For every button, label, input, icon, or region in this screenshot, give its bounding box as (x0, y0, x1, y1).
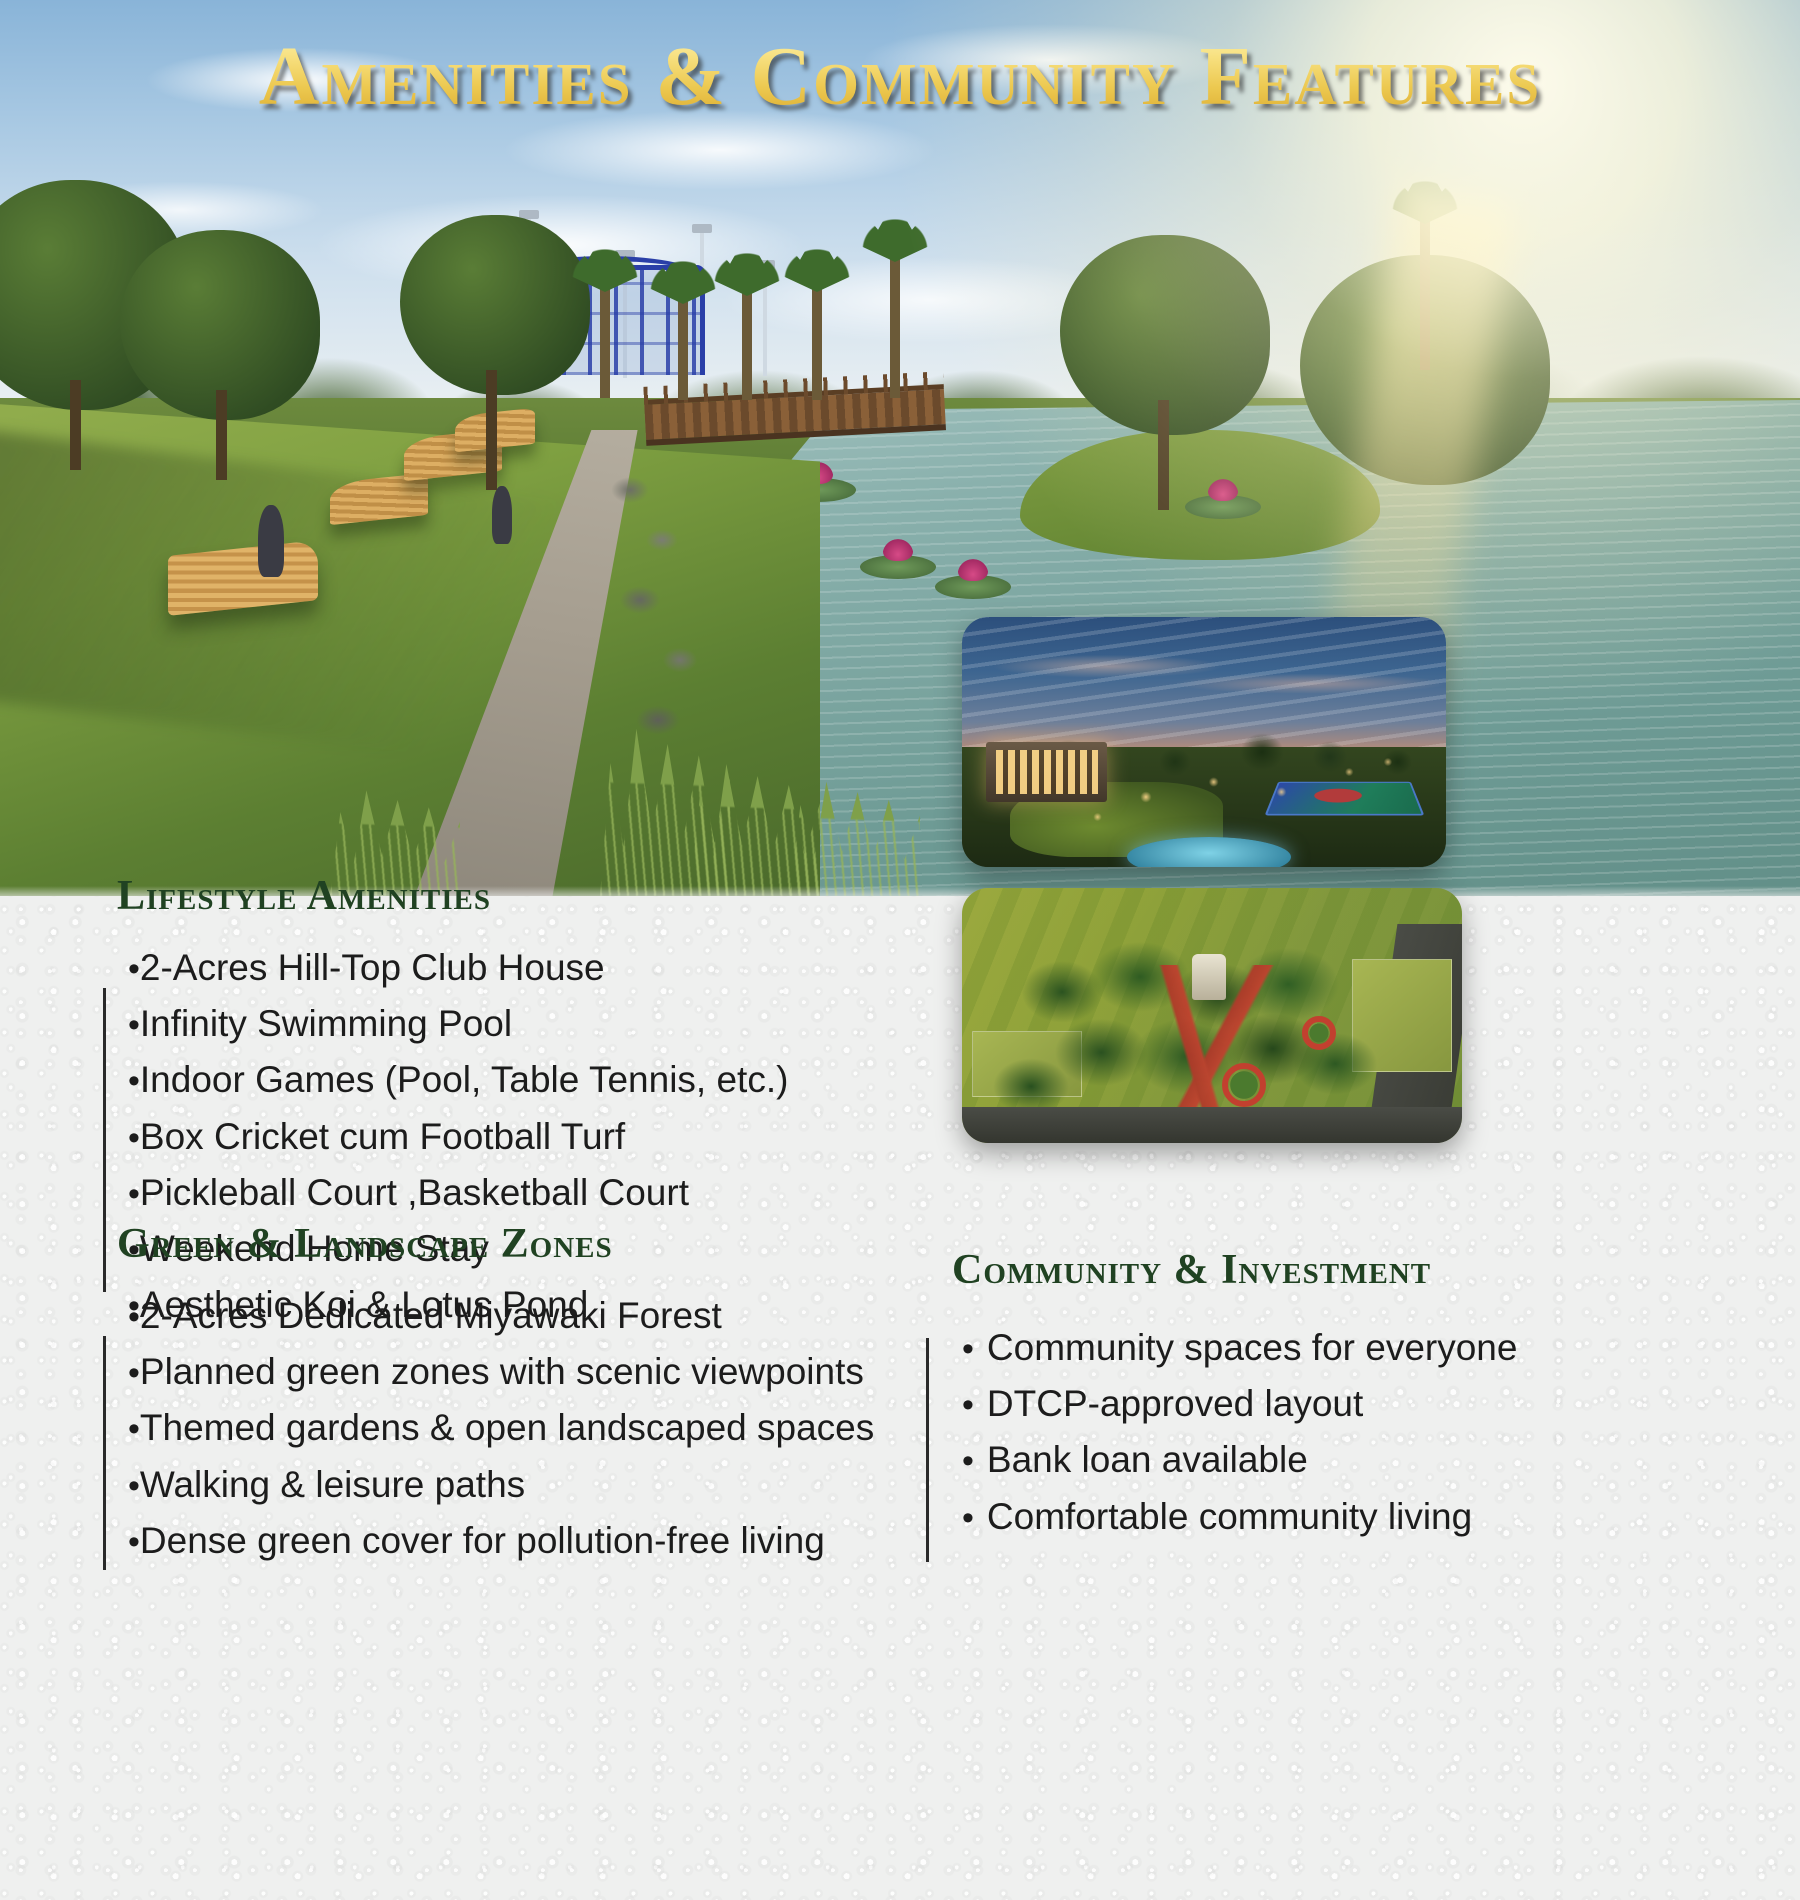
bullet-icon: • (128, 1412, 140, 1446)
bullet-icon: • (128, 1525, 140, 1559)
page-title-container: Amenities & Community Features (0, 28, 1800, 125)
list-item: •DTCP-approved layout (962, 1376, 1517, 1432)
green-bullet-block: •2-Acres Dedicated Miyawaki Forest •Plan… (112, 1288, 874, 1569)
list-item: •Bank loan available (962, 1432, 1517, 1488)
list-item: •Pickleball Court ,Basketball Court (128, 1165, 788, 1221)
bullet-icon: • (128, 1008, 140, 1042)
forest-path-roundabout (1222, 1063, 1266, 1107)
green-landscape-list: •2-Acres Dedicated Miyawaki Forest •Plan… (112, 1288, 874, 1569)
list-item-label: Walking & leisure paths (140, 1457, 525, 1513)
bullet-icon: • (128, 1300, 140, 1334)
list-item: •Infinity Swimming Pool (128, 996, 788, 1052)
community-investment-list: •Community spaces for everyone •DTCP-app… (948, 1320, 1517, 1545)
palm-tree (742, 272, 752, 400)
vertical-rule (103, 1336, 106, 1570)
list-item: •Box Cricket cum Football Turf (128, 1109, 788, 1165)
bullet-icon: • (128, 1356, 140, 1390)
palm-tree (678, 280, 688, 400)
inset-image-forest (962, 888, 1462, 1143)
list-item-label: DTCP-approved layout (987, 1376, 1363, 1432)
bullet-icon: • (128, 1177, 140, 1211)
vertical-rule (926, 1338, 929, 1562)
community-bullet-block: •Community spaces for everyone •DTCP-app… (948, 1320, 1517, 1545)
bullet-icon: • (128, 952, 140, 986)
palm-tree (1420, 200, 1430, 370)
section-heading-lifestyle: Lifestyle Amenities (117, 872, 788, 920)
content-area: Lifestyle Amenities •2-Acres Hill-Top Cl… (0, 896, 1800, 1900)
hero-image (0, 0, 1800, 896)
list-item: •2-Acres Dedicated Miyawaki Forest (128, 1288, 874, 1344)
bullet-icon: • (128, 1121, 140, 1155)
seated-person (258, 505, 284, 577)
list-item-label: Themed gardens & open landscaped spaces (140, 1400, 874, 1456)
list-item: •Planned green zones with scenic viewpoi… (128, 1344, 874, 1400)
list-item-label: Community spaces for everyone (987, 1320, 1518, 1376)
list-item-label: Planned green zones with scenic viewpoin… (140, 1344, 864, 1400)
vertical-rule (103, 988, 106, 1292)
forest-path-roundabout (1302, 1016, 1336, 1050)
palm-tree (812, 268, 822, 400)
list-item-label: 2-Acres Hill-Top Club House (140, 940, 605, 996)
section-community-investment: Community & Investment •Community spaces… (948, 1246, 1517, 1545)
list-item-label: Dense green cover for pollution-free liv… (140, 1513, 825, 1569)
section-heading-green: Green & Landscape Zones (117, 1220, 874, 1268)
tree-trunk (1158, 400, 1169, 510)
lotus-flower (1185, 495, 1261, 519)
bullet-icon: • (962, 1501, 974, 1535)
list-item-label: Comfortable community living (987, 1489, 1472, 1545)
section-green-landscape-zones: Green & Landscape Zones •2-Acres Dedicat… (112, 1220, 874, 1569)
walking-person (492, 486, 512, 544)
bullet-icon: • (128, 1064, 140, 1098)
list-item-label: Infinity Swimming Pool (140, 996, 512, 1052)
bullet-icon: • (962, 1332, 974, 1366)
tree-trunk (486, 370, 497, 490)
forest-water-tower (1192, 954, 1226, 1000)
tree-trunk (216, 390, 227, 480)
lotus-flower (935, 575, 1011, 599)
section-heading-community: Community & Investment (952, 1246, 1517, 1294)
list-item-label: Indoor Games (Pool, Table Tennis, etc.) (140, 1052, 789, 1108)
list-item: •Themed gardens & open landscaped spaces (128, 1400, 874, 1456)
bullet-icon: • (962, 1444, 974, 1478)
inset-image-clubhouse (962, 617, 1446, 867)
forest-front-road (962, 1107, 1462, 1143)
list-item-label: Bank loan available (987, 1432, 1308, 1488)
palm-tree (890, 238, 900, 398)
pond-bank-rocks (600, 470, 880, 770)
list-item-label: Box Cricket cum Football Turf (140, 1109, 625, 1165)
list-item-label: Pickleball Court ,Basketball Court (140, 1165, 689, 1221)
list-item: •Community spaces for everyone (962, 1320, 1517, 1376)
bullet-icon: • (128, 1469, 140, 1503)
list-item-label: 2-Acres Dedicated Miyawaki Forest (140, 1288, 722, 1344)
list-item: •Indoor Games (Pool, Table Tennis, etc.) (128, 1052, 788, 1108)
tree-trunk (70, 380, 81, 470)
list-item: •2-Acres Hill-Top Club House (128, 940, 788, 996)
page-title: Amenities & Community Features (259, 28, 1541, 125)
list-item: •Comfortable community living (962, 1489, 1517, 1545)
foreground-tree (400, 215, 590, 395)
bullet-icon: • (962, 1388, 974, 1422)
list-item: •Walking & leisure paths (128, 1457, 874, 1513)
list-item: •Dense green cover for pollution-free li… (128, 1513, 874, 1569)
clubhouse-landscape-lights (962, 617, 1446, 867)
palm-tree (600, 268, 610, 398)
